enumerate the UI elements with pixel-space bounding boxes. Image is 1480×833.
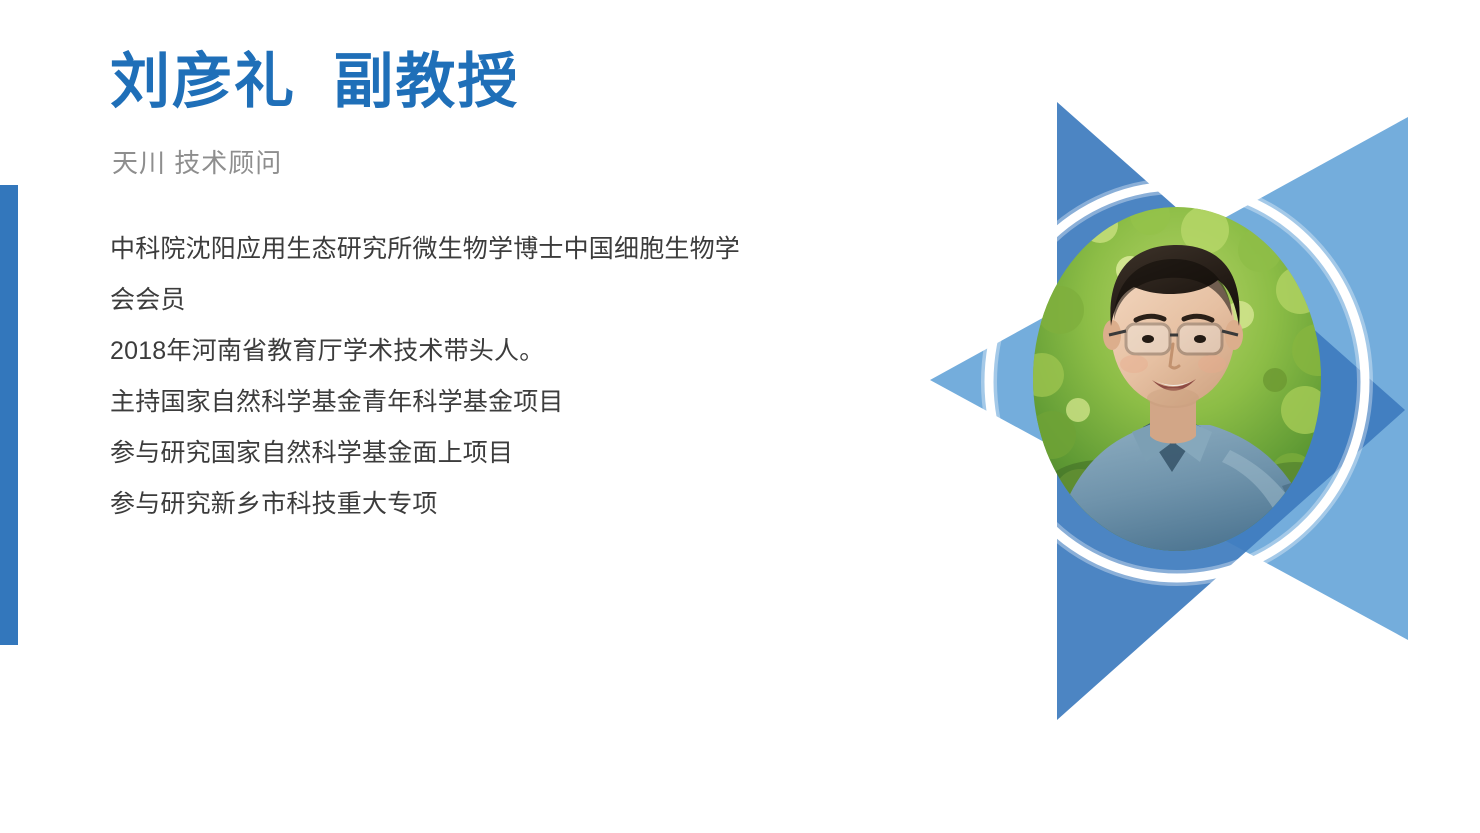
slide-canvas: 刘彦礼 副教授 天川 技术顾问 中科院沈阳应用生态研究所微生物学博士中国细胞生物… [0, 0, 1480, 833]
bio-line: 2018年河南省教育厅学术技术带头人。 [110, 326, 900, 377]
page-title: 刘彦礼 副教授 [110, 48, 900, 115]
bio-line: 参与研究新乡市科技重大专项 [110, 479, 900, 530]
bio-line: 中科院沈阳应用生态研究所微生物学博士中国细胞生物学 [110, 224, 900, 275]
portrait-graphic-group [900, 80, 1440, 760]
page-subtitle: 天川 技术顾问 [112, 143, 900, 180]
left-accent-bar [0, 185, 18, 645]
bio-line: 参与研究国家自然科学基金面上项目 [110, 428, 900, 479]
bio-paragraph: 中科院沈阳应用生态研究所微生物学博士中国细胞生物学 会会员 2018年河南省教育… [110, 224, 900, 530]
text-content-block: 刘彦礼 副教授 天川 技术顾问 中科院沈阳应用生态研究所微生物学博士中国细胞生物… [110, 48, 900, 530]
bio-line: 主持国家自然科学基金青年科学基金项目 [110, 377, 900, 428]
bio-line: 会会员 [110, 275, 900, 326]
